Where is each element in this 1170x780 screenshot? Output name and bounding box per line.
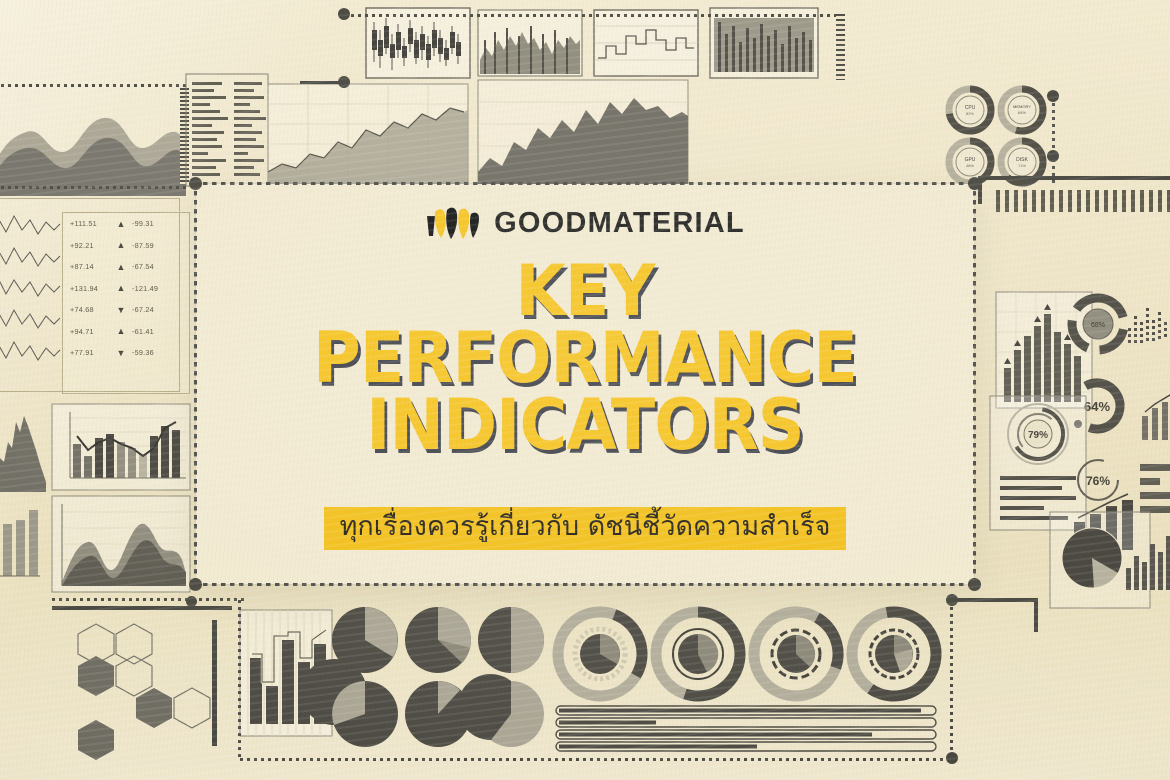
chart-top-stock-1 <box>268 84 468 184</box>
chart-layered-area <box>52 496 190 592</box>
chart-top-candles <box>366 8 470 78</box>
svg-text:64%: 64% <box>1084 399 1110 414</box>
chart-hexagons <box>58 624 218 760</box>
svg-text:79%: 79% <box>1028 430 1048 441</box>
chart-top-bars-right <box>710 8 818 78</box>
title-line-1: KEY <box>223 258 947 325</box>
frame-node-top-left <box>338 8 350 20</box>
brand-logo: GOODMATERIAL <box>196 206 974 240</box>
card-border-bottom <box>194 583 976 586</box>
barcode-row-right <box>996 190 1170 212</box>
chart-system-dials: CPU 82% MEMORY 64% GPU 48% DI <box>944 84 1048 188</box>
svg-text:76%: 76% <box>1086 474 1110 488</box>
chart-pie-grid <box>330 604 548 750</box>
chart-donut-segments: 68% <box>1062 288 1134 360</box>
card-corner-dot-bl <box>189 578 202 591</box>
subtitle-banner: ทุกเรื่องควรรู้เกี่ยวกับ ดัชนีชี้วัดความ… <box>324 507 847 550</box>
frame-dotted-right-top <box>1052 96 1055 184</box>
card-corner-dot-tl <box>189 177 202 190</box>
card-corner-dot-br <box>968 578 981 591</box>
brand-name: GOODMATERIAL <box>494 207 745 240</box>
chart-top-step-line <box>594 10 698 76</box>
frame-line-left <box>300 81 344 84</box>
svg-text:48%: 48% <box>966 163 974 168</box>
frame-node-bottom-right-2 <box>946 752 958 764</box>
frame-node-right-top <box>1047 90 1059 102</box>
svg-text:71%: 71% <box>1018 163 1026 168</box>
title-line-2: PERFORMANCE <box>223 325 947 392</box>
card-border-top <box>194 182 976 185</box>
chart-right-trend-bars <box>1140 390 1170 440</box>
svg-text:64%: 64% <box>1018 110 1026 115</box>
card-corner-dot-tr <box>968 177 981 190</box>
chart-top-left-area <box>0 86 186 196</box>
page-title: KEY PERFORMANCE INDICATORS <box>196 258 974 460</box>
chart-top-dense-bars <box>478 10 582 76</box>
divider-dotted-bottom <box>0 186 190 189</box>
flame-wave-mark-icon <box>425 206 483 240</box>
title-line-3: INDICATORS <box>223 392 947 459</box>
frame-bar-bottom-left <box>52 606 232 610</box>
hero-card: GOODMATERIAL KEY PERFORMANCE INDICATORS … <box>196 184 974 584</box>
frame-node-bottom-left <box>186 596 197 607</box>
frame-dotted-right-bottom <box>950 600 953 760</box>
frame-bar-bottom-right-tick <box>1034 598 1038 632</box>
chart-progress-bars <box>556 706 950 752</box>
frame-left-mid <box>0 198 180 392</box>
frame-dotted-top <box>344 14 836 17</box>
frame-dotted-bottom-left <box>52 598 244 601</box>
chart-top-grid-panel <box>186 74 268 186</box>
barcode-strip-top-right <box>836 14 845 80</box>
chart-bar-and-line <box>52 404 190 490</box>
frame-node-right-mid <box>1047 150 1059 162</box>
chart-top-stock-2 <box>478 80 688 186</box>
frame-bar-bottom-right <box>956 598 1038 602</box>
chart-dot-matrix <box>1128 300 1170 348</box>
chart-right-small-bars <box>1124 522 1170 592</box>
frame-dotted-left-bottom <box>238 600 241 760</box>
chart-bottom-radial-gauges <box>556 608 950 704</box>
svg-text:68%: 68% <box>1091 322 1105 329</box>
frame-bar-right <box>978 176 1170 180</box>
divider-dotted-top <box>0 84 190 87</box>
frame-dotted-bottom <box>240 758 952 761</box>
svg-text:82%: 82% <box>966 111 974 116</box>
svg-text:MEMORY: MEMORY <box>1013 104 1031 109</box>
chart-small-bars-left <box>0 500 40 588</box>
poster-canvas: CPU 82% MEMORY 64% GPU 48% DI <box>0 0 1170 780</box>
subtitle-banner-wrap: ทุกเรื่องควรรู้เกี่ยวกับ ดัชนีชี้วัดความ… <box>196 507 974 550</box>
chart-stock-area-left <box>0 402 46 492</box>
